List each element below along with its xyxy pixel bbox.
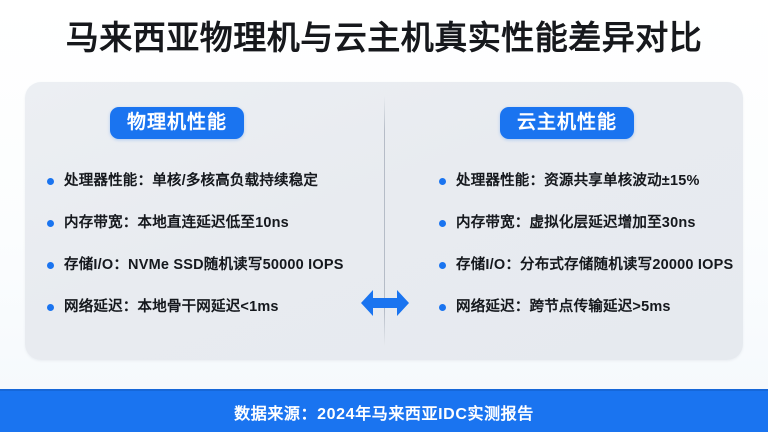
bullet-dot-icon [439, 178, 446, 185]
bullet-dot-icon [439, 220, 446, 227]
list-item: 处理器性能：单核/多核高负载持续稳定 [47, 171, 384, 213]
list-item-label: 存储I/O：分布式存储随机读写20000 IOPS [456, 255, 733, 276]
column-cloud-server: 云主机性能 处理器性能：资源共享单核波动±15% 内存带宽：虚拟化层延迟增加至3… [385, 82, 743, 360]
slide-root: 马来西亚物理机与云主机真实性能差异对比 物理机性能 处理器性能：单核/多核高负载… [0, 0, 768, 432]
feature-list-cloud: 处理器性能：资源共享单核波动±15% 内存带宽：虚拟化层延迟增加至30ns 存储… [385, 171, 743, 339]
list-item-label: 网络延迟：本地骨干网延迟<1ms [64, 297, 279, 318]
column-heading-cloud: 云主机性能 [500, 107, 634, 139]
list-item-label: 存储I/O：NVMe SSD随机读写50000 IOPS [64, 255, 344, 276]
comparison-card: 物理机性能 处理器性能：单核/多核高负载持续稳定 内存带宽：本地直连延迟低至10… [25, 82, 743, 360]
list-item: 存储I/O：NVMe SSD随机读写50000 IOPS [47, 255, 384, 297]
list-item: 内存带宽：虚拟化层延迟增加至30ns [439, 213, 743, 255]
bullet-dot-icon [47, 220, 54, 227]
column-physical-server: 物理机性能 处理器性能：单核/多核高负载持续稳定 内存带宽：本地直连延迟低至10… [25, 82, 384, 360]
column-heading-physical: 物理机性能 [110, 107, 244, 139]
list-item: 网络延迟：本地骨干网延迟<1ms [47, 297, 384, 339]
list-item: 处理器性能：资源共享单核波动±15% [439, 171, 743, 213]
list-item: 内存带宽：本地直连延迟低至10ns [47, 213, 384, 255]
page-title: 马来西亚物理机与云主机真实性能差异对比 [0, 16, 768, 60]
bullet-dot-icon [47, 178, 54, 185]
bullet-dot-icon [47, 304, 54, 311]
double-arrow-horizontal-icon [359, 288, 411, 318]
bullet-dot-icon [439, 262, 446, 269]
list-item-label: 网络延迟：跨节点传输延迟>5ms [456, 297, 671, 318]
list-item-label: 内存带宽：本地直连延迟低至10ns [64, 213, 289, 234]
footer-bar: 数据来源：2024年马来西亚IDC实测报告 [0, 389, 768, 432]
list-item-label: 处理器性能：资源共享单核波动±15% [456, 171, 700, 192]
bullet-dot-icon [47, 262, 54, 269]
data-source-text: 数据来源：2024年马来西亚IDC实测报告 [234, 400, 534, 424]
list-item: 网络延迟：跨节点传输延迟>5ms [439, 297, 743, 339]
list-item: 存储I/O：分布式存储随机读写20000 IOPS [439, 255, 743, 297]
list-item-label: 内存带宽：虚拟化层延迟增加至30ns [456, 213, 696, 234]
bullet-dot-icon [439, 304, 446, 311]
feature-list-physical: 处理器性能：单核/多核高负载持续稳定 内存带宽：本地直连延迟低至10ns 存储I… [25, 171, 384, 339]
list-item-label: 处理器性能：单核/多核高负载持续稳定 [64, 171, 318, 192]
